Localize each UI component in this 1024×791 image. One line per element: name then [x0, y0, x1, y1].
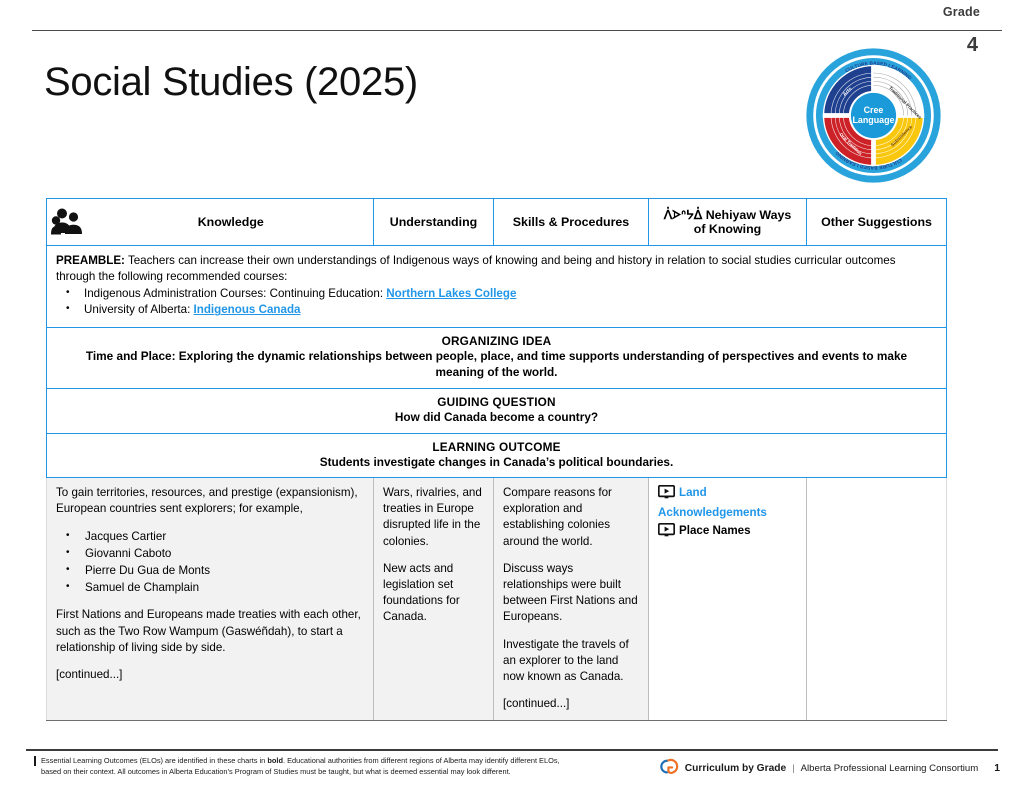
preamble-text: Teachers can increase their own understa… — [56, 254, 896, 283]
column-header-skills-procedures: Skills & Procedures — [494, 199, 649, 246]
organizing-idea-title: ORGANIZING IDEA — [69, 334, 924, 349]
footer-separator: | — [792, 763, 795, 774]
skills-paragraph: Compare reasons for exploration and esta… — [503, 485, 639, 550]
indigenous-canada-link[interactable]: Indigenous Canada — [194, 303, 301, 316]
understanding-paragraph: New acts and legislation set foundations… — [383, 561, 484, 626]
footer-brand-name: Curriculum by Grade — [685, 763, 786, 774]
other-suggestions-cell — [807, 478, 947, 721]
video-label[interactable]: Place Names — [679, 524, 751, 537]
column-header-knowledge: Knowledge — [89, 199, 374, 246]
people-group-icon — [51, 206, 85, 236]
explorer-list: Jacques Cartier Giovanni Caboto Pierre D… — [56, 528, 364, 596]
learning-outcome-body: Students investigate changes in Canada’s… — [69, 455, 924, 471]
understanding-cell: Wars, rivalries, and treaties in Europe … — [374, 478, 494, 721]
video-link-place-names[interactable]: Place Names — [658, 523, 797, 543]
knowledge-paragraph-2: First Nations and Europeans made treatie… — [56, 607, 364, 656]
preamble-course-text: University of Alberta: — [84, 303, 194, 316]
footer-note: Essential Learning Outcomes (ELOs) are i… — [34, 755, 564, 778]
skills-paragraph: Discuss ways relationships were built be… — [503, 561, 639, 626]
list-item: Giovanni Caboto — [56, 545, 364, 562]
cbg-interlocking-rings-icon — [657, 757, 679, 780]
footer-brand: Curriculum by Grade | Alberta Profession… — [657, 757, 1000, 780]
skills-paragraph: Investigate the travels of an explorer t… — [503, 637, 639, 686]
organizing-idea-body: Time and Place: Exploring the dynamic re… — [69, 349, 924, 380]
page-number: 1 — [994, 763, 1000, 774]
preamble-course-item: Indigenous Administration Courses: Conti… — [56, 286, 937, 303]
footer-divider-rule — [26, 749, 998, 751]
preamble-course-text: Indigenous Administration Courses: Conti… — [84, 287, 386, 300]
cree-language-wheel-logo: Cree Language CULTURE BASED LEARNING CUL… — [805, 47, 942, 184]
knowledge-intro: To gain territories, resources, and pres… — [56, 485, 364, 517]
nehiyaw-roman-line2: of Knowing — [694, 222, 761, 236]
knowledge-cell: To gain territories, resources, and pres… — [47, 478, 374, 721]
chart-header-row: Knowledge Understanding Skills & Procedu… — [47, 199, 947, 246]
nehiyaw-roman-line1: Nehiyaw Ways — [706, 208, 792, 222]
column-header-nehiyaw-ways-of-knowing: ᐲᐶᐢᔭᐄ Nehiyaw Ways of Knowing — [649, 199, 807, 246]
column-header-other-suggestions: Other Suggestions — [807, 199, 947, 246]
page-title: Social Studies (2025) — [44, 60, 418, 105]
logo-center-line2: Language — [853, 115, 895, 125]
column-header-understanding: Understanding — [374, 199, 494, 246]
guiding-question-cell: GUIDING QUESTION How did Canada become a… — [47, 389, 947, 434]
video-monitor-icon — [658, 485, 675, 505]
preamble-course-list: Indigenous Administration Courses: Conti… — [56, 286, 937, 319]
chart-content-row: To gain territories, resources, and pres… — [47, 478, 947, 721]
preamble-cell: PREAMBLE: Teachers can increase their ow… — [47, 246, 947, 328]
preamble-course-item: University of Alberta: Indigenous Canada — [56, 302, 937, 319]
nehiyaw-syllabics: ᐲᐶᐢᔭᐄ — [664, 208, 703, 222]
video-link-land-acknowledgements[interactable]: Land Acknowledgements — [658, 485, 797, 521]
preamble-label: PREAMBLE: — [56, 254, 125, 267]
organizing-idea-row: ORGANIZING IDEA Time and Place: Explorin… — [47, 328, 947, 389]
list-item: Pierre Du Gua de Monts — [56, 562, 364, 579]
grade-label: Grade — [882, 6, 1002, 19]
footer-note-bold: bold — [267, 756, 283, 765]
header-divider-rule — [32, 30, 1002, 31]
organizing-idea-cell: ORGANIZING IDEA Time and Place: Explorin… — [47, 328, 947, 389]
understanding-paragraph: Wars, rivalries, and treaties in Europe … — [383, 485, 484, 550]
logo-center-line1: Cree — [864, 105, 884, 115]
curriculum-chart-table: Knowledge Understanding Skills & Procedu… — [46, 198, 947, 721]
knowledge-continued: [continued...] — [56, 667, 364, 683]
footer-note-part1: Essential Learning Outcomes (ELOs) are i… — [41, 756, 267, 765]
preamble-text-block: PREAMBLE: Teachers can increase their ow… — [56, 253, 937, 286]
learning-outcome-row: LEARNING OUTCOME Students investigate ch… — [47, 433, 947, 478]
northern-lakes-college-link[interactable]: Northern Lakes College — [386, 287, 516, 300]
video-monitor-icon — [658, 523, 675, 543]
skills-continued: [continued...] — [503, 696, 639, 712]
skills-procedures-cell: Compare reasons for exploration and esta… — [494, 478, 649, 721]
learning-outcome-cell: LEARNING OUTCOME Students investigate ch… — [47, 433, 947, 478]
guiding-question-row: GUIDING QUESTION How did Canada become a… — [47, 389, 947, 434]
grade-indicator: Grade — [882, 6, 1002, 19]
people-group-icon-cell — [47, 199, 89, 246]
footer-organization: Alberta Professional Learning Consortium — [801, 763, 979, 774]
list-item: Samuel de Champlain — [56, 579, 364, 596]
guiding-question-body: How did Canada become a country? — [69, 410, 924, 426]
list-item: Jacques Cartier — [56, 528, 364, 545]
guiding-question-title: GUIDING QUESTION — [69, 395, 924, 410]
preamble-row: PREAMBLE: Teachers can increase their ow… — [47, 246, 947, 328]
document-page: Grade 4 Social Studies (2025) — [0, 0, 1024, 791]
cree-wheel-svg: Cree Language CULTURE BASED LEARNING CUL… — [805, 47, 942, 184]
learning-outcome-title: LEARNING OUTCOME — [69, 440, 924, 455]
nehiyaw-ways-cell: Land Acknowledgements Place Names — [649, 478, 807, 721]
